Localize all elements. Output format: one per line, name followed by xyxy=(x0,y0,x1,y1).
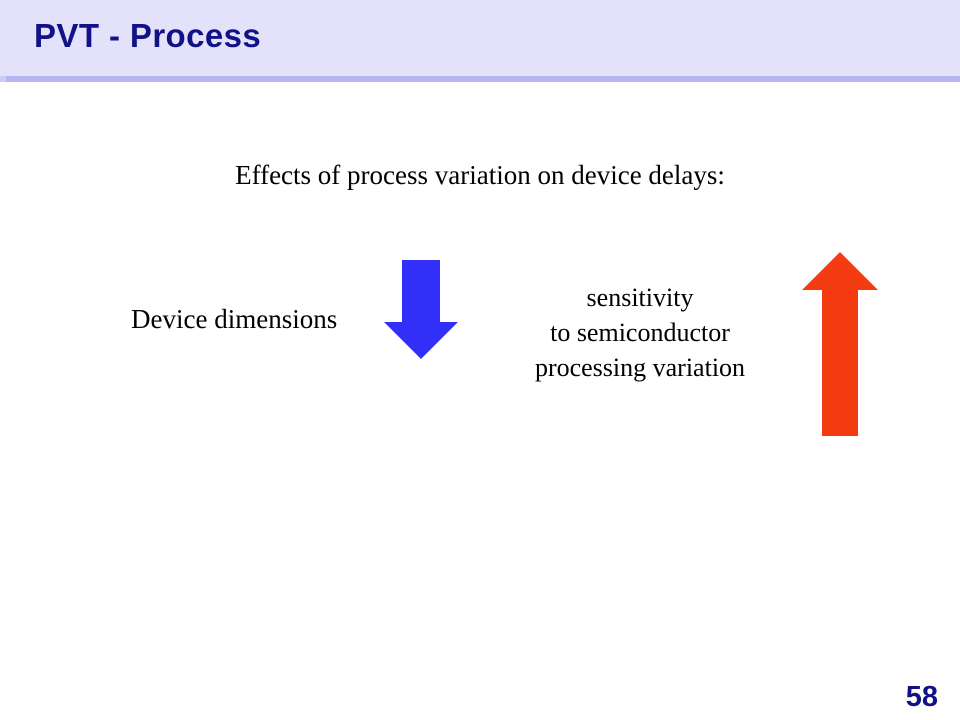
slide-header: PVT - Process xyxy=(0,0,960,76)
intro-statement: Effects of process variation on device d… xyxy=(0,160,960,191)
arrow-up-icon xyxy=(800,252,880,438)
page-title: PVT - Process xyxy=(34,17,261,55)
sensitivity-line-3: processing variation xyxy=(494,350,786,385)
device-dimensions-label: Device dimensions xyxy=(131,304,337,335)
sensitivity-caption: sensitivity to semiconductor processing … xyxy=(494,280,786,385)
sensitivity-line-2: to semiconductor xyxy=(494,315,786,350)
slide-content: Effects of process variation on device d… xyxy=(0,82,960,720)
sensitivity-line-1: sensitivity xyxy=(494,280,786,315)
page-number: 58 xyxy=(906,681,938,714)
arrow-down-icon xyxy=(381,260,461,360)
